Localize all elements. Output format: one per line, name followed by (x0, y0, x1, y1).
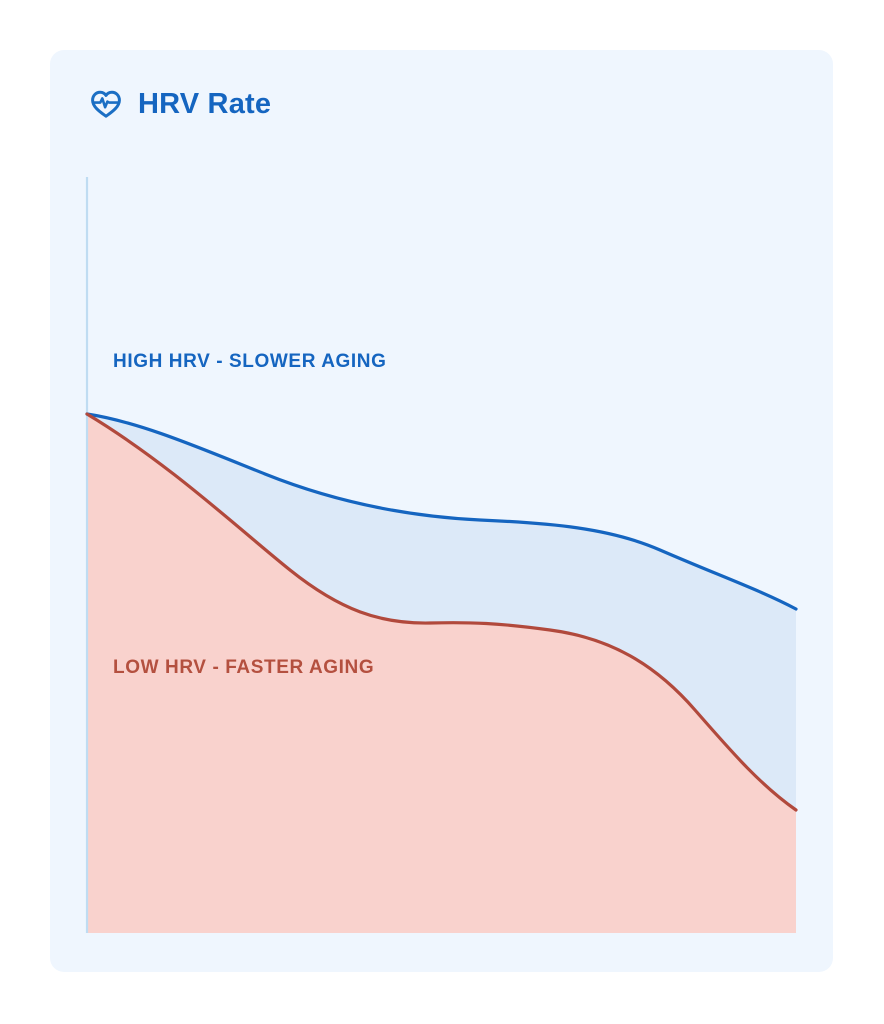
hrv-rate-card: HIGH HRV - SLOWER AGING LOW HRV - FASTER… (50, 50, 833, 972)
page-root: HIGH HRV - SLOWER AGING LOW HRV - FASTER… (0, 0, 884, 1024)
hrv-chart-svg (50, 50, 833, 972)
page-title: HRV Rate (138, 90, 271, 119)
high-hrv-label: HIGH HRV - SLOWER AGING (113, 352, 386, 371)
hrv-chart: HIGH HRV - SLOWER AGING LOW HRV - FASTER… (50, 50, 833, 972)
card-header: HRV Rate (88, 86, 271, 122)
heart-pulse-icon (88, 86, 124, 122)
low-hrv-label: LOW HRV - FASTER AGING (113, 658, 374, 677)
